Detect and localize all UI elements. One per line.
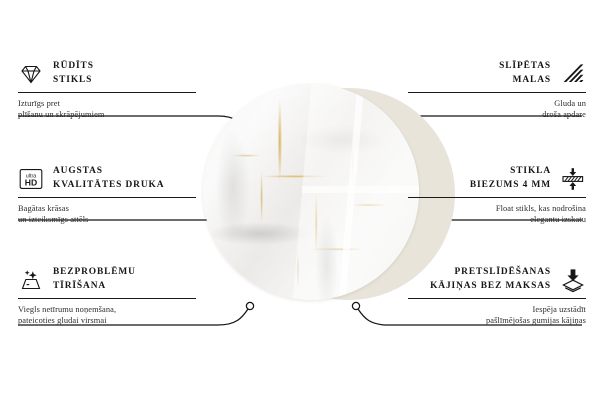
callout-description: Float stikls, kas nodrošina elegantu izs… <box>408 203 586 226</box>
callout-glass-thickness: STIKLA BIEZUMS 4 MM Float stikls, kas no… <box>408 165 586 226</box>
callout-description: Bagātas krāsas un izteiksmīgs attēls <box>18 203 196 226</box>
callout-divider <box>18 298 196 299</box>
svg-text:HD: HD <box>25 177 37 187</box>
callout-header: ultra HD AUGSTAS KVALITĀTES DRUKA <box>18 165 196 192</box>
callout-easy-cleaning: BEZPROBLĒMU TĪRĪŠANA Viegls netīrumu noņ… <box>18 266 196 327</box>
callout-header: BEZPROBLĒMU TĪRĪŠANA <box>18 266 196 293</box>
callout-description: Iespēja uzstādīt pašlīmējošas gumijas kā… <box>408 304 586 327</box>
callout-divider <box>408 298 586 299</box>
callout-divider <box>18 197 196 198</box>
callout-header: STIKLA BIEZUMS 4 MM <box>408 165 586 192</box>
ultra-hd-badge-icon: ultra HD <box>18 166 44 192</box>
press-down-layers-icon <box>560 267 586 293</box>
callout-title: STIKLA BIEZUMS 4 MM <box>470 165 551 192</box>
callout-tempered-glass: RŪDĪTS STIKLS Izturīgs pret plīšanu un s… <box>18 60 196 121</box>
callout-title: BEZPROBLĒMU TĪRĪŠANA <box>53 266 136 293</box>
callout-anti-slip-feet: PRETSLĪDĒŠANAS KĀJIŅAS BEZ MAKSAS Iespēj… <box>408 266 586 327</box>
diamond-icon <box>18 61 44 87</box>
thickness-arrows-icon <box>560 166 586 192</box>
callout-description: Gluda un droša apdare <box>408 98 586 121</box>
sparkle-clean-icon <box>18 267 44 293</box>
callout-header: SLĪPĒTAS MALAS <box>408 60 586 87</box>
connector-dot-easy-cleaning <box>246 302 253 309</box>
infographic-canvas: RŪDĪTS STIKLS Izturīgs pret plīšanu un s… <box>0 0 600 400</box>
callout-divider <box>408 197 586 198</box>
callout-header: RŪDĪTS STIKLS <box>18 60 196 87</box>
callout-title: SLĪPĒTAS MALAS <box>499 60 551 87</box>
callout-divider <box>408 92 586 93</box>
callout-title: RŪDĪTS STIKLS <box>53 60 94 87</box>
callout-high-quality-print: ultra HD AUGSTAS KVALITĀTES DRUKA Bagāta… <box>18 165 196 226</box>
callout-divider <box>18 92 196 93</box>
callout-title: PRETSLĪDĒŠANAS KĀJIŅAS BEZ MAKSAS <box>430 266 551 293</box>
callout-header: PRETSLĪDĒŠANAS KĀJIŅAS BEZ MAKSAS <box>408 266 586 293</box>
diagonal-stripes-icon <box>560 61 586 87</box>
callout-description: Izturīgs pret plīšanu un skrāpējumiem <box>18 98 196 121</box>
glass-sheen <box>203 84 419 300</box>
product-image-round-glass-board <box>203 84 419 300</box>
callout-description: Viegls netīrumu noņemšana, pateicoties g… <box>18 304 196 327</box>
callout-title: AUGSTAS KVALITĀTES DRUKA <box>53 165 164 192</box>
callout-polished-edges: SLĪPĒTAS MALAS Gluda un droša apdare <box>408 60 586 121</box>
connector-dot-anti-slip-feet <box>352 302 359 309</box>
